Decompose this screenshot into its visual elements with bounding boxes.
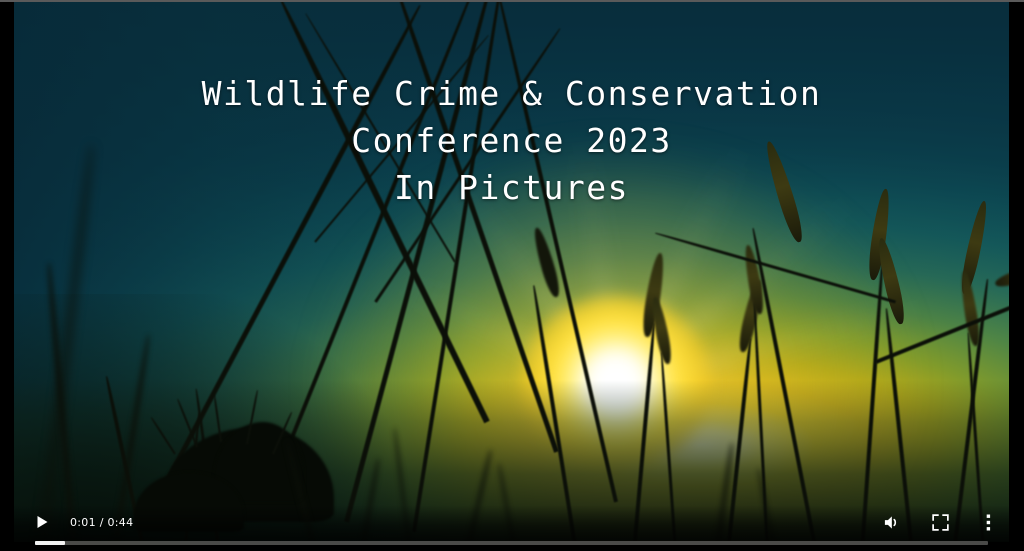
- progress-track[interactable]: [35, 541, 988, 545]
- play-icon: [34, 514, 50, 530]
- controls-left-group: 0:01 / 0:44: [0, 510, 133, 534]
- progress-bar[interactable]: [35, 541, 988, 545]
- player-controls: 0:01 / 0:44: [0, 505, 1024, 551]
- controls-right-group: [880, 510, 1024, 534]
- volume-button[interactable]: [880, 510, 904, 534]
- volume-icon: [883, 513, 902, 532]
- kebab-menu-icon: [986, 513, 991, 532]
- play-button[interactable]: [30, 510, 54, 534]
- more-options-button[interactable]: [976, 510, 1000, 534]
- progress-fill: [35, 541, 65, 545]
- fullscreen-button[interactable]: [928, 510, 952, 534]
- video-frame[interactable]: Wildlife Crime & Conservation Conference…: [14, 2, 1009, 542]
- controls-row: 0:01 / 0:44: [0, 505, 1024, 539]
- fullscreen-icon: [932, 514, 949, 531]
- video-player[interactable]: Wildlife Crime & Conservation Conference…: [0, 0, 1024, 551]
- top-edge-hairline: [0, 0, 1024, 2]
- time-display: 0:01 / 0:44: [70, 516, 133, 529]
